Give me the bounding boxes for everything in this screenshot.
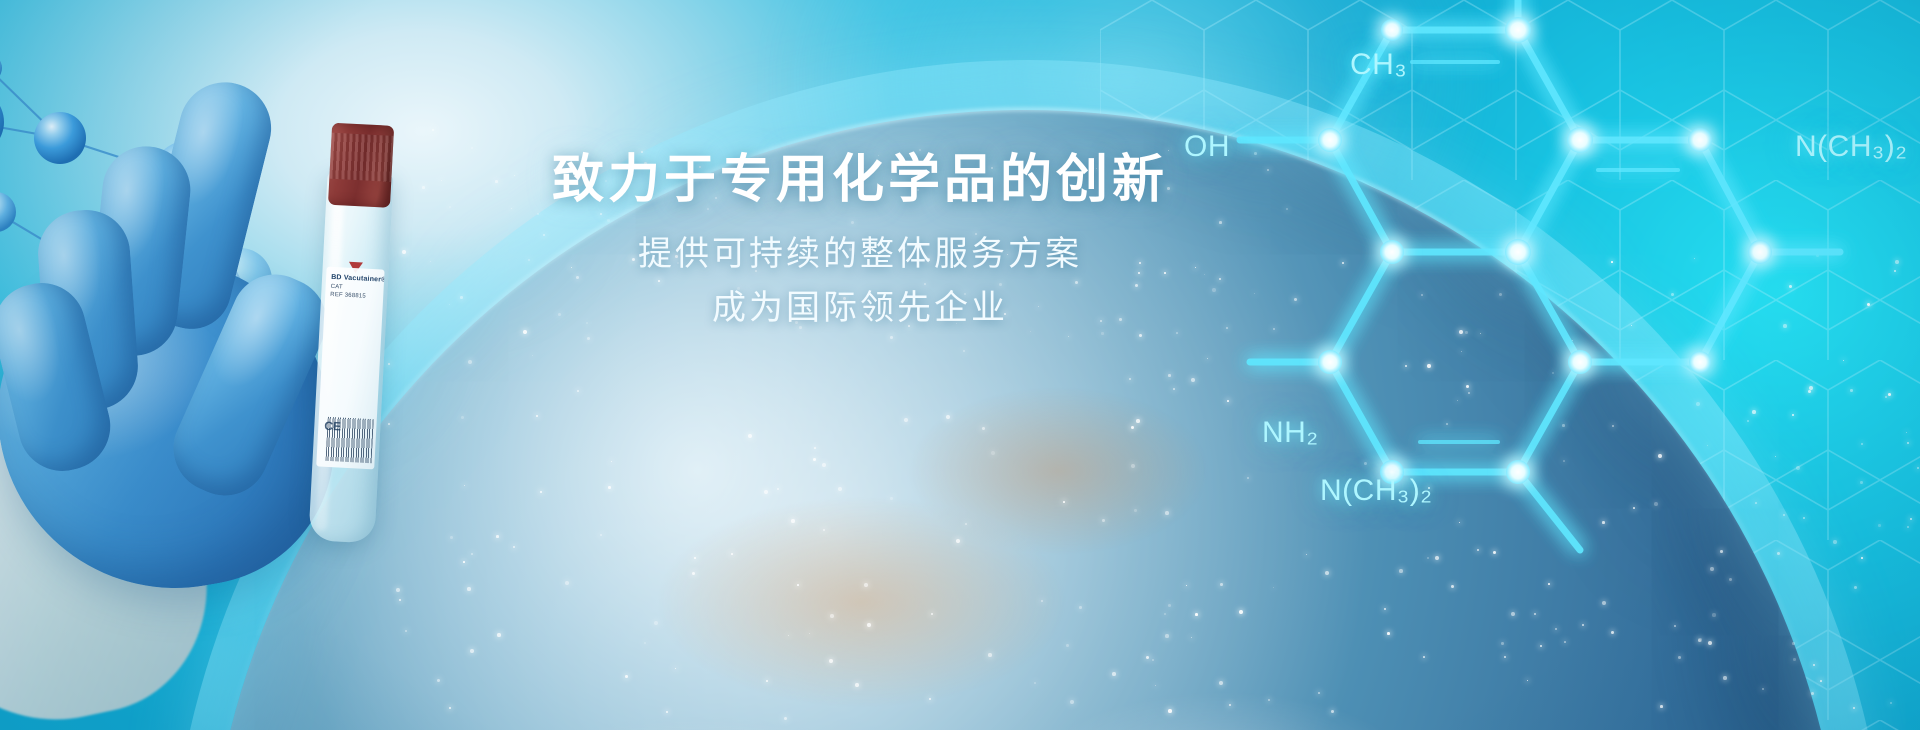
banner-subline-1: 提供可持续的整体服务方案 (0, 229, 1820, 281)
hero-banner: BD Vacutainer® CAT REF 368815 CE (0, 0, 1920, 730)
banner-headline: 致力于专用化学品的创新 (0, 150, 1820, 211)
background-vignette (0, 0, 1920, 730)
banner-copy-block: 致力于专用化学品的创新 提供可持续的整体服务方案 成为国际领先企业 (0, 150, 1820, 335)
banner-subline-2: 成为国际领先企业 (0, 283, 1820, 335)
